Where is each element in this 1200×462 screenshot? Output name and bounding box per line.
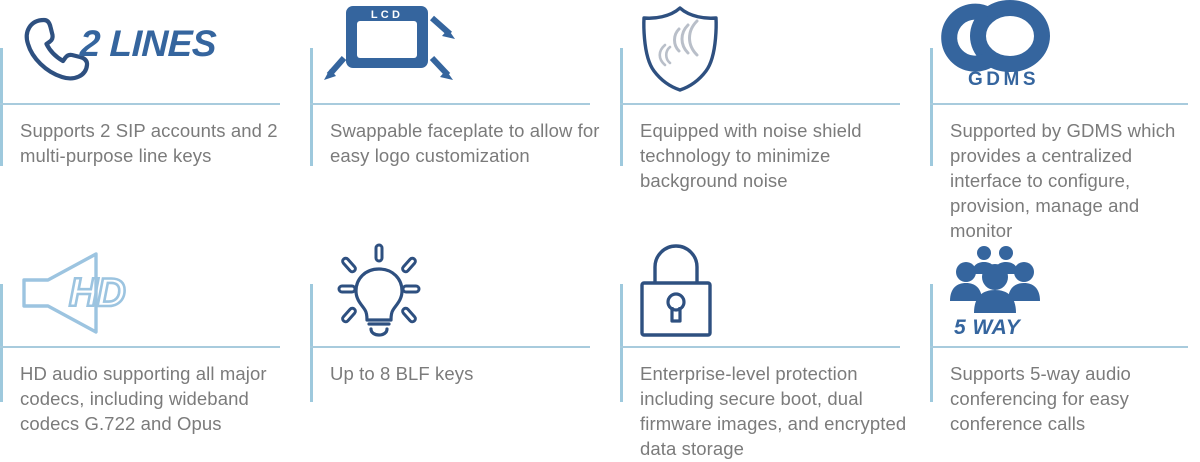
accent-vertical-rule xyxy=(0,48,3,166)
icon-label-two-lines: 2 LINES xyxy=(78,22,218,64)
hd-speaker-icon: HD xyxy=(14,246,164,336)
feature-cell-swappable-faceplate: LCD Swappable faceplate to allow for eas… xyxy=(310,0,620,231)
accent-vertical-rule xyxy=(620,284,623,402)
accent-horizontal-rule xyxy=(930,346,1188,348)
accent-horizontal-rule xyxy=(0,103,280,105)
feature-description: Up to 8 BLF keys xyxy=(330,361,608,386)
icon-label-five-way: 5 WAY xyxy=(954,316,1022,339)
accent-vertical-rule xyxy=(930,284,933,402)
feature-grid: 2 LINES Supports 2 SIP accounts and 2 mu… xyxy=(0,0,1200,462)
feature-icon-area: LCD xyxy=(324,2,604,94)
feature-description: Supported by GDMS which provides a centr… xyxy=(950,118,1200,243)
icon-label-hd: HD xyxy=(69,271,125,315)
accent-vertical-rule xyxy=(310,48,313,166)
feature-description: Swappable faceplate to allow for easy lo… xyxy=(330,118,608,168)
icon-label-gdms: GDMS xyxy=(968,69,1039,90)
accent-horizontal-rule xyxy=(310,346,590,348)
accent-horizontal-rule xyxy=(620,346,900,348)
accent-vertical-rule xyxy=(310,284,313,402)
feature-cell-gdms: GDMS Supported by GDMS which provides a … xyxy=(930,0,1190,231)
lcd-faceplate-swap-icon: LCD xyxy=(324,2,464,94)
feature-icon-area: GDMS xyxy=(944,2,1200,94)
feature-icon-area: HD xyxy=(14,245,294,337)
feature-cell-hd-audio: HD HD audio supporting all major codecs,… xyxy=(0,231,310,462)
feature-icon-area xyxy=(634,2,914,94)
accent-vertical-rule xyxy=(0,284,3,402)
feature-icon-area: 2 LINES xyxy=(14,2,294,94)
gdms-logo-icon: GDMS xyxy=(944,3,1064,93)
accent-horizontal-rule xyxy=(0,346,280,348)
phone-handset-two-lines-icon: 2 LINES xyxy=(14,12,204,84)
feature-description: Supports 2 SIP accounts and 2 multi-purp… xyxy=(20,118,298,168)
feature-cell-blf-keys: Up to 8 BLF keys xyxy=(310,231,620,462)
feature-description: HD audio supporting all major codecs, in… xyxy=(20,361,298,436)
feature-icon-area xyxy=(324,245,604,337)
icon-label-lcd: LCD xyxy=(371,9,403,21)
feature-description: Equipped with noise shield technology to… xyxy=(640,118,918,193)
accent-horizontal-rule xyxy=(310,103,590,105)
people-group-five-way-icon: 5 WAY xyxy=(944,245,1064,337)
feature-icon-area: 5 WAY xyxy=(944,245,1200,337)
feature-cell-enterprise-security: Enterprise-level protection including se… xyxy=(620,231,930,462)
lightbulb-icon xyxy=(324,245,434,337)
feature-cell-five-way-conference: 5 WAY Supports 5-way audio conferencing … xyxy=(930,231,1190,462)
feature-description: Enterprise-level protection including se… xyxy=(640,361,918,461)
accent-vertical-rule xyxy=(930,48,933,166)
feature-description: Supports 5-way audio conferencing for ea… xyxy=(950,361,1200,436)
shield-noise-waves-icon xyxy=(634,3,726,93)
feature-cell-two-lines: 2 LINES Supports 2 SIP accounts and 2 mu… xyxy=(0,0,310,231)
feature-icon-area xyxy=(634,245,914,337)
feature-cell-noise-shield: Equipped with noise shield technology to… xyxy=(620,0,930,231)
accent-vertical-rule xyxy=(620,48,623,166)
accent-horizontal-rule xyxy=(620,103,900,105)
accent-horizontal-rule xyxy=(930,103,1188,105)
padlock-icon xyxy=(634,245,720,337)
